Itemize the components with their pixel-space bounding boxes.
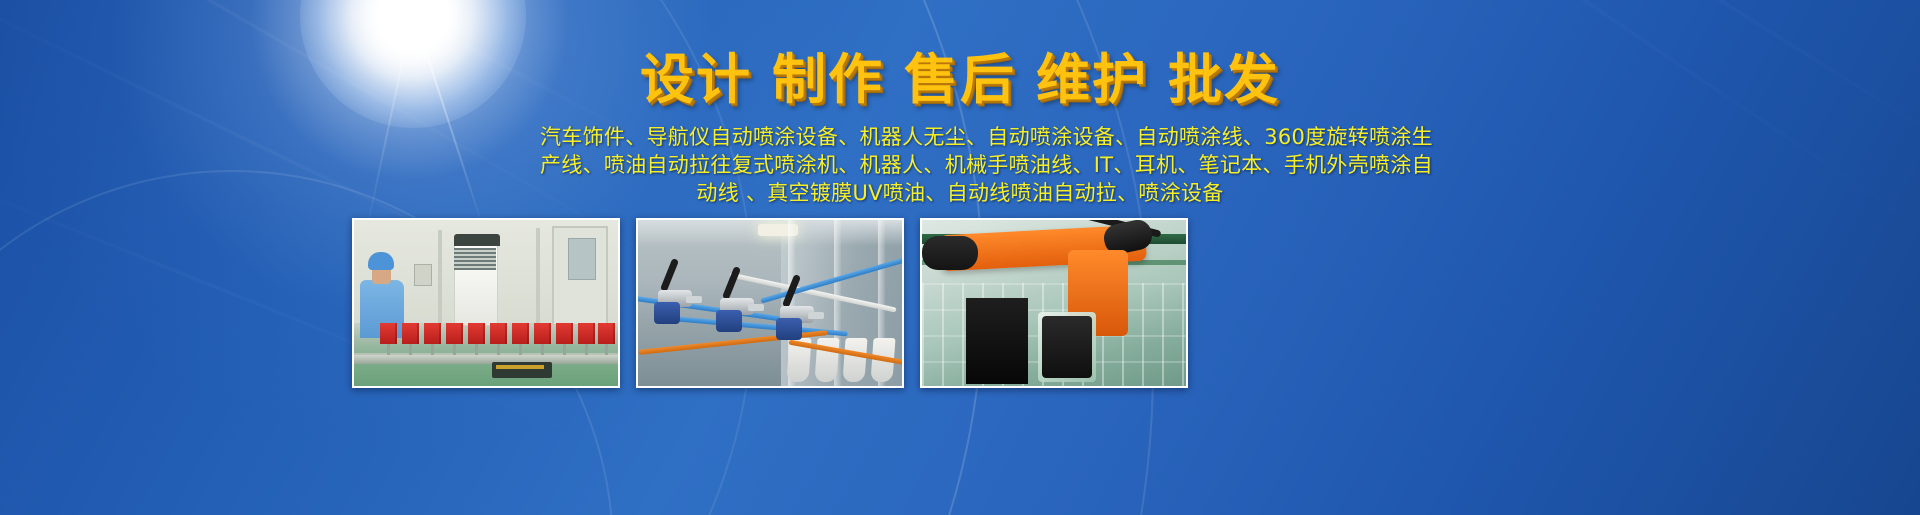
subtitle-block: 汽车饰件、导航仪自动喷涂设备、机器人无尘、自动喷涂设备、自动喷涂线、360度旋转… (540, 123, 1380, 207)
headline-item-3: 售后 (904, 48, 1016, 111)
subtitle-line-1: 汽车饰件、导航仪自动喷涂设备、机器人无尘、自动喷涂设备、自动喷涂线、360度旋转… (540, 123, 1380, 151)
headline-item-4: 维护 (1036, 48, 1148, 111)
subtitle-line-3: 动线 、真空镀膜UV喷油、自动线喷油自动拉、喷涂设备 (540, 179, 1380, 207)
page-title: 设计制作售后维护批发 (0, 50, 1920, 110)
photo-robot-arm (920, 218, 1188, 388)
headline-item-5: 批发 (1168, 48, 1280, 111)
photo-spray-guns (636, 218, 904, 388)
photo-gallery (0, 218, 1920, 393)
headline-item-2: 制作 (772, 48, 884, 111)
photo-cleanroom-spray-line (352, 218, 620, 388)
subtitle-line-2: 产线、喷油自动拉往复式喷涂机、机器人、机械手喷油线、IT、耳机、笔记本、手机外壳… (540, 151, 1380, 179)
headline-item-1: 设计 (640, 48, 752, 111)
promo-banner: 设计制作售后维护批发 汽车饰件、导航仪自动喷涂设备、机器人无尘、自动喷涂设备、自… (0, 0, 1920, 515)
